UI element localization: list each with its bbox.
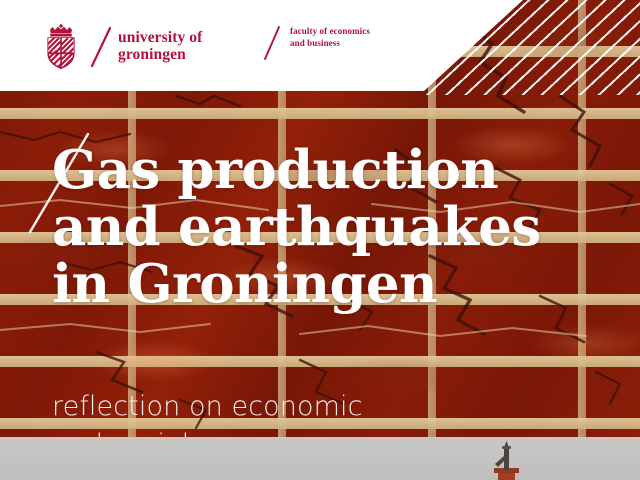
faculty-diagonal-slash-icon	[262, 22, 282, 62]
university-wordmark: university ofgroningen	[118, 29, 202, 63]
footer-band	[0, 437, 640, 480]
faculty-lockup[interactable]: faculty of economicsand business	[262, 22, 370, 68]
statue-figurine-icon	[489, 440, 523, 480]
faculty-name: faculty of economicsand business	[290, 26, 370, 49]
faculty-line-2: and business	[290, 38, 340, 48]
presentation-slide: university ofgroningen faculty of econom…	[0, 0, 640, 480]
page-title: Gas production and earthquakes in Gronin…	[52, 142, 612, 313]
logo-diagonal-slash-icon	[88, 23, 114, 69]
wordmark-line-1: university of	[118, 29, 202, 46]
university-logo[interactable]: university ofgroningen	[44, 18, 202, 74]
university-of-groningen-crest-icon	[44, 23, 78, 69]
wordmark-line-2: groningen	[118, 46, 186, 63]
faculty-line-1: faculty of economics	[290, 26, 370, 36]
